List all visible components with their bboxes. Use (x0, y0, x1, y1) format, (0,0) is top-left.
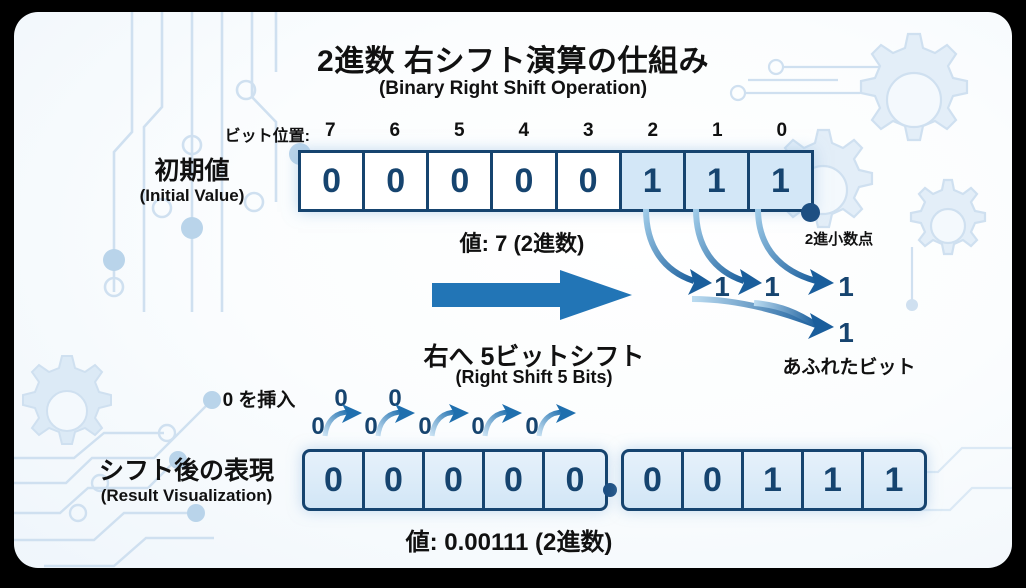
page-subtitle: (Binary Right Shift Operation) (14, 78, 1012, 100)
bit-cell: 0 (558, 153, 622, 209)
result-label-en: (Result Visualization) (74, 486, 299, 506)
bit-position-value: 4 (492, 120, 557, 144)
bit-position-value: 1 (685, 120, 750, 144)
bit-cell: 0 (545, 452, 605, 508)
zero-insert-arrows-icon (294, 404, 584, 446)
overflow-bit: 1 (758, 271, 786, 303)
result-fraction-bit-row: 0 0 1 1 1 (621, 449, 927, 511)
bit-cell: 0 (425, 452, 485, 508)
bit-position-value: 3 (556, 120, 621, 144)
initial-value-label-jp: 初期値 (94, 158, 290, 186)
initial-value-label-en: (Initial Value) (94, 186, 290, 206)
circuit-trace-decoration-bottom-left (14, 338, 314, 568)
result-label: シフト後の表現 (Result Visualization) (74, 457, 299, 506)
initial-value-bit-row: 0 0 0 0 0 1 1 1 (298, 150, 814, 212)
bit-cell: 1 (686, 153, 750, 209)
bit-position-value: 0 (750, 120, 815, 144)
result-value-readout: 値: 0.00111 (2進数) (344, 522, 674, 557)
bit-cell: 0 (493, 153, 557, 209)
bit-position-value: 6 (363, 120, 428, 144)
bit-cell: 1 (804, 452, 864, 508)
bit-cell: 0 (485, 452, 545, 508)
overflow-bits-label: あふれたビット (754, 352, 944, 379)
bit-position-value: 5 (427, 120, 492, 144)
slide-card: 2進数 右シフト演算の仕組み (Binary Right Shift Opera… (14, 12, 1012, 568)
overflow-bit: 1 (708, 271, 736, 303)
bit-cell: 0 (684, 452, 744, 508)
bit-cell: 1 (750, 153, 811, 209)
overflow-bit: 1 (832, 317, 860, 349)
bit-cell: 1 (864, 452, 924, 508)
bit-cell: 0 (365, 452, 425, 508)
bit-position-value: 7 (298, 120, 363, 144)
shift-label-en: (Right Shift 5 Bits) (394, 367, 674, 388)
bit-position-value: 2 (621, 120, 686, 144)
bit-cell: 0 (365, 153, 429, 209)
initial-value-label: 初期値 (Initial Value) (94, 158, 290, 206)
result-label-jp: シフト後の表現 (74, 457, 299, 486)
bit-position-ruler: 7 6 5 4 3 2 1 0 (298, 120, 814, 144)
bit-position-label: ビット位置: (190, 122, 310, 146)
bit-cell: 0 (301, 153, 365, 209)
bit-cell: 0 (624, 452, 684, 508)
bit-cell: 1 (744, 452, 804, 508)
result-binary-point-dot (603, 483, 617, 497)
initial-value-readout: 値: 7 (2進数) (412, 226, 632, 258)
right-shift-arrow-icon (432, 270, 632, 320)
overflow-bit: 1 (832, 271, 860, 303)
result-integer-bit-row: 0 0 0 0 0 (302, 449, 608, 511)
bit-cell: 0 (429, 153, 493, 209)
page-title: 2進数 右シフト演算の仕組み (14, 36, 1012, 80)
bit-cell: 0 (305, 452, 365, 508)
bit-cell: 1 (622, 153, 686, 209)
